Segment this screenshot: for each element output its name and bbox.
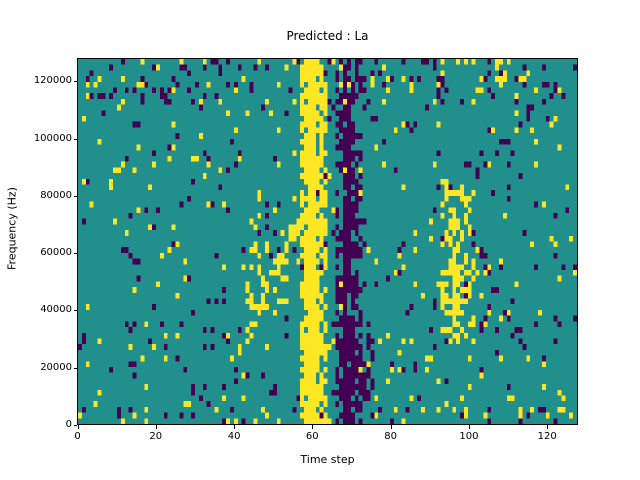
heatmap-axes — [77, 58, 578, 425]
x-tick-mark — [547, 425, 548, 429]
x-tick-mark — [156, 425, 157, 429]
y-tick-label: 80000 — [40, 191, 72, 201]
x-tick-mark — [391, 425, 392, 429]
x-tick-mark — [469, 425, 470, 429]
y-tick-mark — [74, 196, 78, 197]
x-tick-mark — [78, 425, 79, 429]
x-tick-label: 120 — [538, 431, 557, 442]
x-tick-label: 0 — [74, 431, 80, 442]
x-tick-label: 40 — [228, 431, 241, 442]
y-tick-mark — [74, 139, 78, 140]
y-axis-label: Frequency (Hz) — [6, 169, 19, 289]
y-tick-mark — [74, 368, 78, 369]
y-tick-mark — [74, 81, 78, 82]
y-tick-label: 120000 — [34, 76, 72, 86]
x-tick-mark — [312, 425, 313, 429]
y-tick-label: 20000 — [40, 363, 72, 373]
x-tick-label: 20 — [149, 431, 162, 442]
y-tick-label: 40000 — [40, 305, 72, 315]
x-tick-label: 100 — [459, 431, 478, 442]
x-tick-label: 60 — [306, 431, 319, 442]
y-tick-label: 100000 — [34, 134, 72, 144]
x-axis-label: Time step — [77, 453, 578, 466]
y-tick-label: 60000 — [40, 248, 72, 258]
spectrogram-heatmap — [78, 59, 577, 424]
y-tick-mark — [74, 253, 78, 254]
y-tick-label: 0 — [66, 420, 72, 430]
matplotlib-figure: Predicted : La 0200004000060000800001000… — [0, 0, 640, 480]
x-tick-mark — [234, 425, 235, 429]
x-tick-label: 80 — [384, 431, 397, 442]
page-title: Predicted : La — [77, 29, 578, 43]
y-tick-mark — [74, 310, 78, 311]
y-tick-mark — [74, 425, 78, 426]
